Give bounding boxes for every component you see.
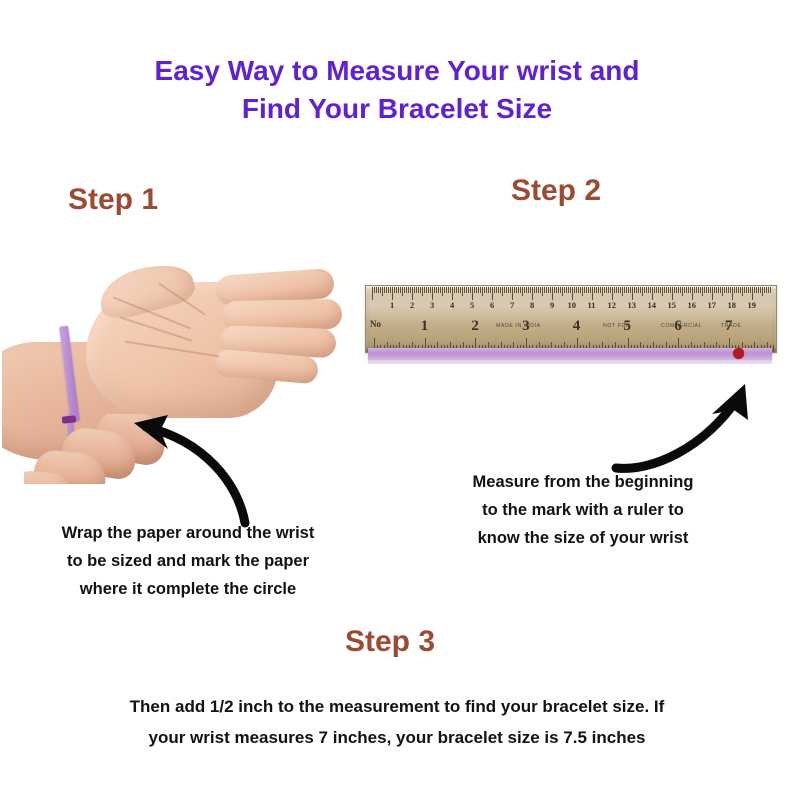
ruler-tick [724, 287, 725, 293]
ruler-tick [598, 287, 599, 293]
curved-arrow-to-ruler-icon [612, 368, 782, 478]
ruler-tick [740, 287, 741, 293]
ruler-tick [592, 287, 593, 300]
ruler-metric-number: 14 [648, 301, 657, 310]
ruler-tick [572, 287, 573, 300]
ruler-tick [536, 287, 537, 293]
ruler-tick [578, 287, 579, 293]
ruler-tick [512, 287, 513, 300]
ruler-metric-number: 17 [708, 301, 717, 310]
ruler-tick [396, 287, 397, 293]
ruler-tick [462, 287, 463, 296]
ruler-tick [508, 287, 509, 293]
ruler-tick [414, 287, 415, 293]
ruler-tick [498, 287, 499, 293]
ruler-tick [642, 287, 643, 296]
ruler-tick [390, 287, 391, 293]
ruler-tick [452, 287, 453, 300]
step-1-heading: Step 1 [68, 183, 158, 217]
ruler-tick [756, 287, 757, 293]
ruler-tick [674, 287, 675, 293]
ruler-tick [424, 287, 425, 293]
ruler-tick [666, 287, 667, 293]
ruler-tick [694, 287, 695, 293]
paper-strip-under-ruler [368, 348, 772, 361]
step-2-caption-line-3: know the size of your wrist [408, 524, 758, 552]
ruler-tick [500, 287, 501, 293]
ruler-tick [616, 287, 617, 293]
ruler-tick [608, 287, 609, 293]
ruler-tick [584, 287, 585, 293]
ruler-tick [762, 287, 763, 296]
ruler-tick [636, 287, 637, 293]
ruler-tick [656, 287, 657, 293]
ruler-tick [742, 287, 743, 296]
ruler-tick [564, 287, 565, 293]
ruler-tick [744, 287, 745, 293]
ruler-tick [400, 287, 401, 293]
ruler-tick [738, 287, 739, 293]
ruler-tick [600, 287, 601, 293]
ruler-tick [398, 287, 399, 293]
ruler-tick [622, 287, 623, 296]
ruler-tick [754, 287, 755, 293]
ruler-tick [552, 287, 553, 300]
ruler-tick [736, 287, 737, 293]
ruler-tick [518, 287, 519, 293]
ruler-tick [628, 287, 629, 293]
ruler-tick [702, 287, 703, 296]
step-3-caption-line-1: Then add 1/2 inch to the measurement to … [57, 691, 737, 722]
ruler-tick [434, 287, 435, 293]
ruler-tick [560, 287, 561, 293]
ruler-tick [470, 287, 471, 293]
ruler-tick [670, 287, 671, 293]
ruler-tick [386, 287, 387, 293]
ruler-tick [476, 287, 477, 293]
ruler-tick [562, 287, 563, 296]
ruler-tick [480, 287, 481, 293]
ruler-stamp-trade: TRADE [721, 323, 742, 329]
ruler-tick [696, 287, 697, 293]
ruler-metric-number: 3 [430, 301, 434, 310]
ruler-metric-number: 16 [688, 301, 697, 310]
ruler-tick [488, 287, 489, 293]
ruler-tick [770, 287, 771, 293]
ruler-stamp-commercial: COMMERCIAL [661, 323, 702, 329]
ruler-tick [482, 287, 483, 296]
ruler-tick [460, 287, 461, 293]
ruler-tick [710, 287, 711, 293]
step-1-caption: Wrap the paper around the wrist to be si… [8, 519, 368, 603]
curved-arrow-to-wrist-icon [120, 405, 330, 525]
ruler-tick [446, 287, 447, 293]
ruler-tick [602, 287, 603, 296]
step-1-caption-line-1: Wrap the paper around the wrist [8, 519, 368, 547]
ruler-tick [504, 287, 505, 293]
step-1-caption-line-2: to be sized and mark the paper [8, 547, 368, 575]
ruler-tick [586, 287, 587, 293]
ruler-tick [556, 287, 557, 293]
ruler-tick [522, 287, 523, 296]
ruler-tick [496, 287, 497, 293]
ruler-tick [472, 287, 473, 300]
ruler-tick [438, 287, 439, 293]
ruler-tick [486, 287, 487, 293]
ruler-tick [576, 287, 577, 293]
ruler-tick [542, 287, 543, 296]
ruler-tick [458, 287, 459, 293]
ruler-tick [680, 287, 681, 293]
ruler-tick [378, 287, 379, 293]
ruler-tick [676, 287, 677, 293]
ruler-tick [712, 287, 713, 300]
ruler-tick [426, 287, 427, 293]
step-2-caption-line-1: Measure from the beginning [408, 468, 758, 496]
step-2-heading: Step 2 [511, 174, 601, 208]
ruler-tick [773, 345, 774, 351]
ruler-tick [672, 287, 673, 300]
ruler-tick [750, 287, 751, 293]
ruler-tick [720, 287, 721, 293]
step-2-caption: Measure from the beginning to the mark w… [408, 468, 758, 552]
ruler-tick [760, 287, 761, 293]
ruler-tick [466, 287, 467, 293]
ruler-tick [624, 287, 625, 293]
ruler-tick [614, 287, 615, 293]
page-title-line-1: Easy Way to Measure Your wrist and [0, 52, 794, 90]
ruler-tick [454, 287, 455, 293]
ruler-metric-number: 6 [490, 301, 494, 310]
ruler-image: 12345678910111213141516171819 1234567 No… [365, 285, 777, 353]
ruler-tick [548, 287, 549, 293]
ruler-tick [688, 287, 689, 293]
ruler-tick [464, 287, 465, 293]
ruler-tick [574, 287, 575, 293]
ruler-tick [640, 287, 641, 293]
ruler-tick [524, 287, 525, 293]
ruler-tick [648, 287, 649, 293]
ruler-tick [384, 287, 385, 293]
red-measurement-mark [733, 348, 744, 359]
ruler-metric-number: 12 [608, 301, 617, 310]
ruler-tick [768, 287, 769, 293]
ruler-tick [546, 287, 547, 293]
ruler-tick [620, 287, 621, 293]
ruler-stamp-not-for: NOT FOR [603, 323, 630, 329]
ruler-metric-number: 5 [470, 301, 474, 310]
ruler-tick [644, 287, 645, 293]
ruler-metric-number: 18 [728, 301, 737, 310]
ruler-tick [650, 287, 651, 293]
ruler-tick [376, 287, 377, 293]
ruler-tick [704, 287, 705, 293]
ruler-tick [764, 287, 765, 293]
ruler-tick [388, 287, 389, 293]
ruler-tick [766, 287, 767, 293]
ruler-tick [730, 287, 731, 293]
step-3-caption: Then add 1/2 inch to the measurement to … [57, 691, 737, 753]
ruler-tick [722, 287, 723, 296]
ruler-tick [558, 287, 559, 293]
ruler-tick [412, 287, 413, 300]
ruler-tick [604, 287, 605, 293]
ruler-tick [444, 287, 445, 293]
ruler-tick [596, 287, 597, 293]
ruler-tick [734, 287, 735, 293]
ruler-metric-number: 10 [568, 301, 577, 310]
ruler-tick [758, 287, 759, 293]
ruler-metric-number: 11 [588, 301, 596, 310]
ruler-tick [684, 287, 685, 293]
ruler-tick [610, 287, 611, 293]
ruler-inch-number: 1 [421, 319, 429, 334]
ruler-tick [406, 287, 407, 293]
ruler-tick [678, 287, 679, 293]
ruler-tick [494, 287, 495, 293]
ruler-tick [700, 287, 701, 293]
ruler-tick [594, 287, 595, 293]
ruler-tick [392, 287, 393, 300]
ruler-tick [492, 287, 493, 300]
ruler-tick [520, 287, 521, 293]
ruler-tick [530, 287, 531, 293]
ruler-metric-number: 9 [550, 301, 554, 310]
ruler-tick [588, 287, 589, 293]
ruler-tick [532, 287, 533, 300]
ruler-tick [646, 287, 647, 293]
ruler-tick [478, 287, 479, 293]
ruler-tick [714, 287, 715, 293]
ruler-inch-number: 2 [471, 319, 479, 334]
ruler-tick [580, 287, 581, 293]
ruler-tick [638, 287, 639, 293]
ruler-tick [538, 287, 539, 293]
ruler-tick [374, 287, 375, 293]
ruler-tick [456, 287, 457, 293]
ruler-tick [728, 287, 729, 293]
ruler-tick [408, 287, 409, 293]
ruler-tick [442, 287, 443, 296]
ruler-tick [402, 287, 403, 296]
ruler-tick [590, 287, 591, 293]
ruler-tick [748, 287, 749, 293]
ruler-tick [416, 287, 417, 293]
ruler-tick [372, 287, 373, 300]
ruler-tick [718, 287, 719, 293]
ruler-metric-number: 1 [390, 301, 394, 310]
ruler-tick [474, 287, 475, 293]
ruler-tick [516, 287, 517, 293]
ruler-tick [502, 287, 503, 296]
ruler-tick [432, 287, 433, 300]
ruler-metric-number: 15 [668, 301, 677, 310]
ruler-tick [654, 287, 655, 293]
ruler-tick [420, 287, 421, 293]
ruler-tick [568, 287, 569, 293]
ruler-tick [612, 287, 613, 300]
ruler-tick [528, 287, 529, 293]
ruler-tick [440, 287, 441, 293]
ruler-tick [448, 287, 449, 293]
step-3-heading: Step 3 [345, 625, 435, 659]
ruler-inch-number: 4 [573, 319, 581, 334]
ruler-tick [380, 287, 381, 293]
ruler-metric-number: 13 [628, 301, 637, 310]
ruler-tick [682, 287, 683, 296]
ruler-tick [394, 287, 395, 293]
step-2-caption-line-2: to the mark with a ruler to [408, 496, 758, 524]
ruler-stamp-made-in-india: MADE IN INDIA [496, 323, 541, 329]
page-title: Easy Way to Measure Your wrist and Find … [0, 52, 794, 128]
ruler-tick [554, 287, 555, 293]
ruler-metric-number: 4 [450, 301, 454, 310]
ruler-tick [668, 287, 669, 293]
ruler-tick [752, 287, 753, 300]
ruler-tick [634, 287, 635, 293]
ruler-tick [582, 287, 583, 296]
ruler-tick [484, 287, 485, 293]
ruler-tick [570, 287, 571, 293]
step-3-caption-line-2: your wrist measures 7 inches, your brace… [57, 722, 737, 753]
ruler-tick [690, 287, 691, 293]
ruler-tick [692, 287, 693, 300]
ruler-tick [732, 287, 733, 300]
ruler-tick [716, 287, 717, 293]
ruler-tick [662, 287, 663, 296]
ruler-tick [544, 287, 545, 293]
ruler-tick [468, 287, 469, 293]
ruler-tick [534, 287, 535, 293]
infographic-page: Easy Way to Measure Your wrist and Find … [0, 0, 794, 794]
ruler-tick [510, 287, 511, 293]
ruler-tick [490, 287, 491, 293]
ruler-metric-number: 8 [530, 301, 534, 310]
ruler-tick [618, 287, 619, 293]
ruler-tick [686, 287, 687, 293]
ruler-metric-number: 7 [510, 301, 514, 310]
ruler-tick [428, 287, 429, 293]
ruler-tick [514, 287, 515, 293]
ruler-tick [422, 287, 423, 296]
step-1-caption-line-3: where it complete the circle [8, 575, 368, 603]
ruler-tick [698, 287, 699, 293]
page-title-line-2: Find Your Bracelet Size [0, 90, 794, 128]
ruler-tick [430, 287, 431, 293]
ruler-tick [404, 287, 405, 293]
ruler-tick [526, 287, 527, 293]
ruler-tick [708, 287, 709, 293]
ruler-tick [410, 287, 411, 293]
ruler-tick [664, 287, 665, 293]
ruler-tick [418, 287, 419, 293]
ruler-tick [436, 287, 437, 293]
ruler-tick [540, 287, 541, 293]
ruler-zero-label: No [370, 320, 381, 329]
ruler-tick [550, 287, 551, 293]
ruler-tick [606, 287, 607, 293]
ruler-metric-number: 2 [410, 301, 414, 310]
ruler-tick [566, 287, 567, 293]
ruler-tick [726, 287, 727, 293]
ruler-tick [658, 287, 659, 293]
ruler-tick [506, 287, 507, 293]
ruler-tick [382, 287, 383, 296]
ruler-tick [450, 287, 451, 293]
ruler-tick [630, 287, 631, 293]
ruler-tick [652, 287, 653, 300]
ruler-tick [746, 287, 747, 293]
ruler-tick [660, 287, 661, 293]
ruler-tick [626, 287, 627, 293]
ruler-tick [632, 287, 633, 300]
ruler-metric-number: 19 [748, 301, 757, 310]
ruler-tick [706, 287, 707, 293]
